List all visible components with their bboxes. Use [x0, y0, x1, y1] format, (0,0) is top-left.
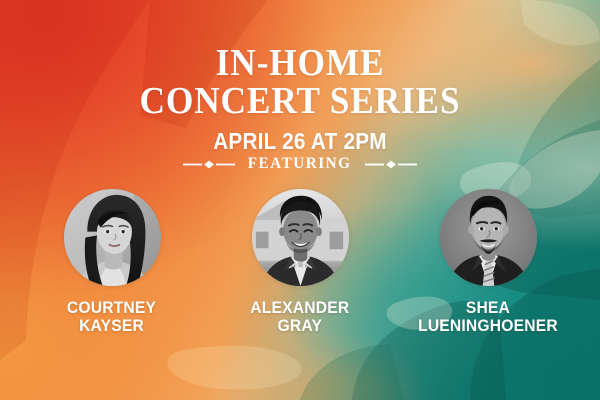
concert-series-poster: IN-HOME CONCERT SERIES APRIL 26 AT 2PM F…	[0, 0, 600, 400]
event-date-time: APRIL 26 AT 2PM	[30, 128, 570, 155]
poster-headline: IN-HOME CONCERT SERIES	[21, 46, 579, 119]
performer-list: COURTNEY KAYSER	[0, 189, 600, 335]
portrait-shea-lueninghoener	[440, 189, 537, 286]
portrait-photo	[440, 189, 537, 286]
portrait-photo	[252, 189, 349, 286]
headline-block: IN-HOME CONCERT SERIES APRIL 26 AT 2PM	[0, 46, 600, 155]
performer-name: COURTNEY KAYSER	[67, 299, 156, 335]
dash-diamond-ornament-left	[183, 160, 235, 169]
portrait-alexander-gray	[252, 189, 349, 286]
headline-line-2: CONCERT SERIES	[21, 84, 579, 119]
performer-item: COURTNEY KAYSER	[39, 189, 185, 335]
featuring-divider: FEATURING	[0, 155, 600, 173]
dash-diamond-ornament-right	[365, 160, 417, 169]
portrait-courtney-kayser	[64, 189, 161, 286]
performer-name: SHEA LUENINGHOENER	[418, 299, 558, 335]
performer-item: SHEA LUENINGHOENER	[415, 189, 561, 335]
headline-line-1: IN-HOME	[21, 46, 579, 81]
portrait-photo	[64, 189, 161, 286]
performer-name: ALEXANDER GRAY	[250, 299, 349, 335]
performer-item: ALEXANDER GRAY	[227, 189, 373, 335]
featuring-label: FEATURING	[248, 155, 352, 173]
